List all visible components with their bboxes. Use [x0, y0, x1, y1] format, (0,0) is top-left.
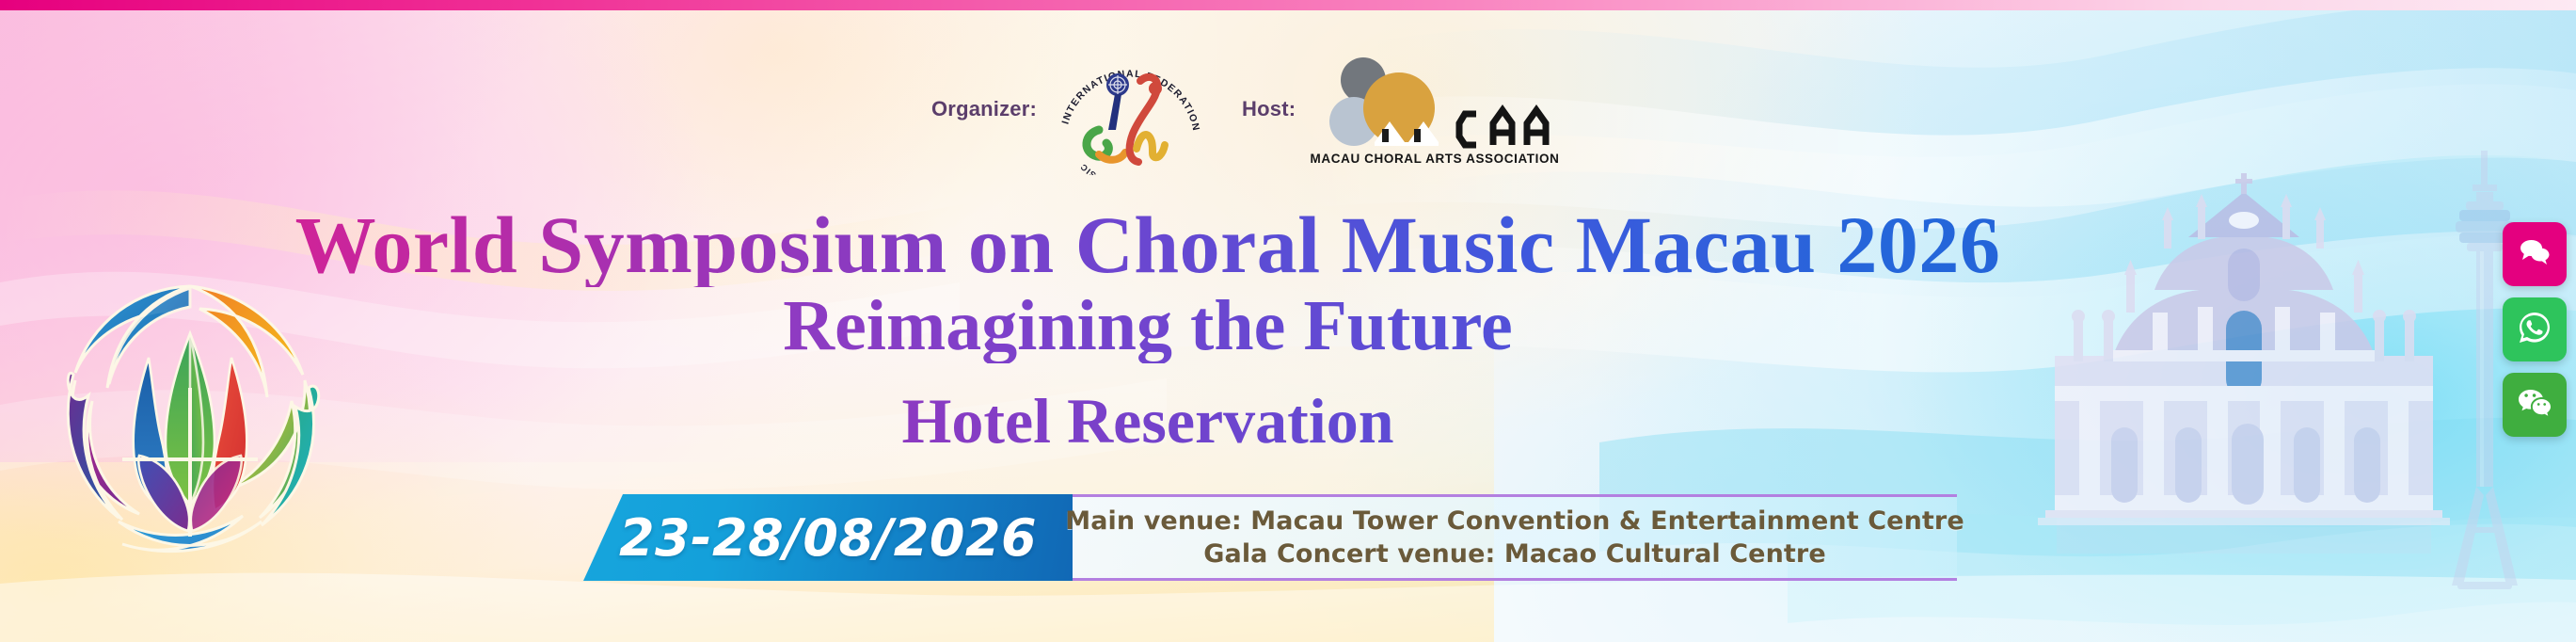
partner-logos: Organizer: INTERNATIONAL FEDERATION FOR …: [931, 43, 1561, 175]
event-date-chip: 23-28/08/2026: [583, 494, 1073, 581]
whatsapp-icon: [2516, 309, 2553, 351]
main-venue-line: Main venue: Macau Tower Convention & Ent…: [1065, 506, 1964, 536]
chat-button[interactable]: [2503, 222, 2567, 286]
wechat-icon: [2516, 384, 2553, 426]
headline-block: World Symposium on Choral Music Macau 20…: [0, 203, 2296, 455]
caa-logo: MACAU CHORAL ARTS ASSOCIATION: [1309, 52, 1561, 167]
page-title: World Symposium on Choral Music Macau 20…: [0, 203, 2296, 287]
svg-text:CHORAL MUSIC: CHORAL MUSIC: [1078, 162, 1157, 175]
host-label: Host:: [1242, 97, 1296, 121]
wechat-button[interactable]: [2503, 373, 2567, 437]
top-accent-bar: [0, 0, 2576, 10]
organizer-group: Organizer: INTERNATIONAL FEDERATION FOR …: [931, 43, 1210, 175]
organizer-label: Organizer:: [931, 97, 1037, 121]
event-banner: Organizer: INTERNATIONAL FEDERATION FOR …: [0, 0, 2576, 642]
page-topic: Hotel Reservation: [0, 388, 2296, 455]
ifcm-logo: INTERNATIONAL FEDERATION FOR CHORAL MUSI…: [1050, 43, 1210, 175]
svg-text:MACAU CHORAL ARTS ASSOCIATION: MACAU CHORAL ARTS ASSOCIATION: [1311, 152, 1560, 166]
event-info-bar: 23-28/08/2026 Main venue: Macau Tower Co…: [583, 494, 1957, 584]
event-date: 23-28/08/2026: [619, 508, 1037, 568]
host-group: Host:: [1242, 52, 1561, 167]
gala-venue-line: Gala Concert venue: Macao Cultural Centr…: [1203, 539, 1826, 569]
floating-social-buttons: [2503, 222, 2567, 437]
chat-bubbles-icon: [2516, 233, 2553, 276]
page-subtitle: Reimagining the Future: [0, 289, 2296, 363]
whatsapp-button[interactable]: [2503, 297, 2567, 361]
venue-box: Main venue: Macau Tower Convention & Ent…: [1073, 494, 1957, 581]
